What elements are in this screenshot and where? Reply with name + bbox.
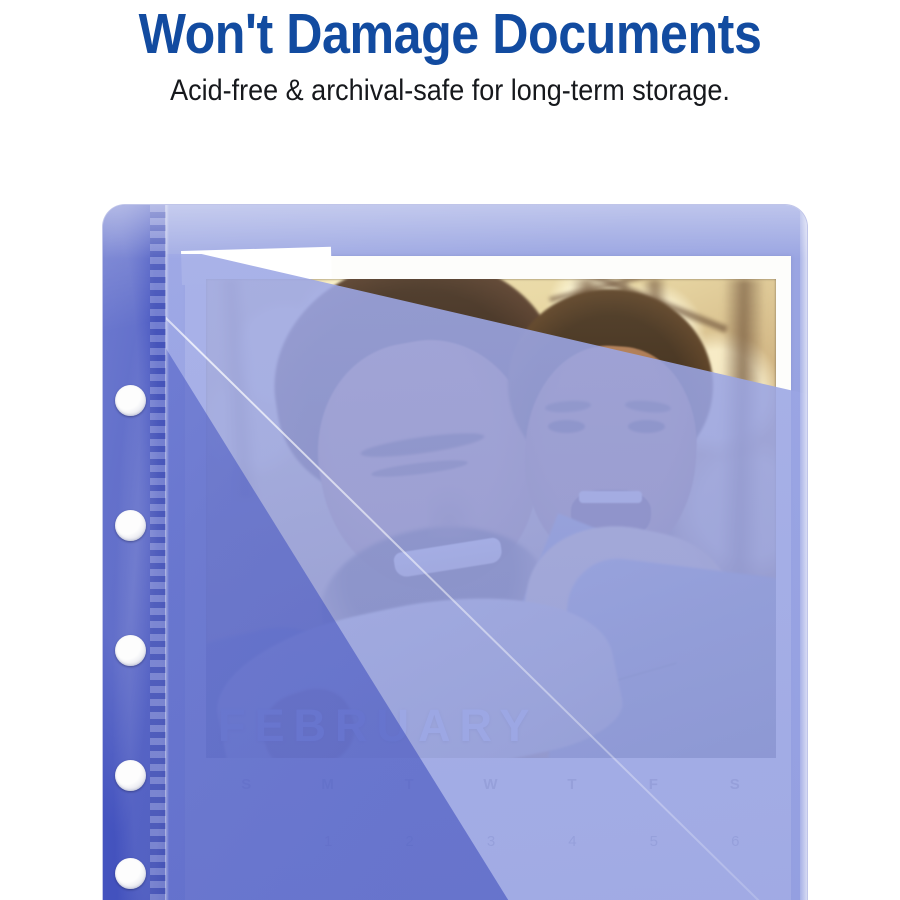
- calendar-week-row: 1 2 3 4 5 6: [206, 833, 776, 850]
- punch-hole-icon: [115, 510, 146, 541]
- calendar-date-cell: 4: [532, 833, 613, 850]
- header-block: Won't Damage Documents Acid-free & archi…: [0, 0, 900, 108]
- binding-strip: [103, 205, 166, 900]
- calendar-dow: S: [206, 776, 287, 793]
- child-eye: [548, 420, 585, 432]
- child-teeth: [579, 491, 642, 502]
- calendar-photo: [206, 279, 776, 758]
- calendar-date-cell: 6: [695, 833, 776, 850]
- calendar-month-label: FEBRUARY: [218, 700, 538, 752]
- calendar-dow: W: [450, 776, 531, 793]
- calendar-grid: S M T W T F S 1 2 3 4 5 6: [206, 758, 776, 900]
- punch-hole-icon: [115, 385, 146, 416]
- calendar-dow: S: [695, 776, 776, 793]
- child-eye: [628, 420, 665, 432]
- adult-nose: [428, 485, 479, 538]
- marketing-infographic-page: Won't Damage Documents Acid-free & archi…: [0, 0, 900, 900]
- calendar-dow: F: [613, 776, 694, 793]
- binding-edge-highlight: [165, 205, 169, 900]
- calendar-date-cell: 2: [369, 833, 450, 850]
- punch-hole-icon: [115, 635, 146, 666]
- sheet-protector: FEBRUARY S M T W T F S 1 2 3 4 5 6: [103, 205, 807, 900]
- calendar-date-cell: 3: [450, 833, 531, 850]
- calendar-dow: T: [369, 776, 450, 793]
- punch-hole-icon: [115, 760, 146, 791]
- calendar-date-cell: 5: [613, 833, 694, 850]
- calendar-dow: T: [532, 776, 613, 793]
- perforation-texture: [150, 205, 166, 900]
- calendar-dow: M: [287, 776, 368, 793]
- page-title: Won't Damage Documents: [54, 0, 846, 65]
- calendar-date-cell: 1: [287, 833, 368, 850]
- page-subtitle: Acid-free & archival-safe for long-term …: [45, 74, 855, 108]
- punch-hole-icon: [115, 858, 146, 889]
- calendar-day-headers: S M T W T F S: [206, 776, 776, 793]
- punch-hole-column: [115, 205, 155, 900]
- sleeve-right-edge: [800, 205, 807, 900]
- calendar-date-cell: [206, 833, 287, 850]
